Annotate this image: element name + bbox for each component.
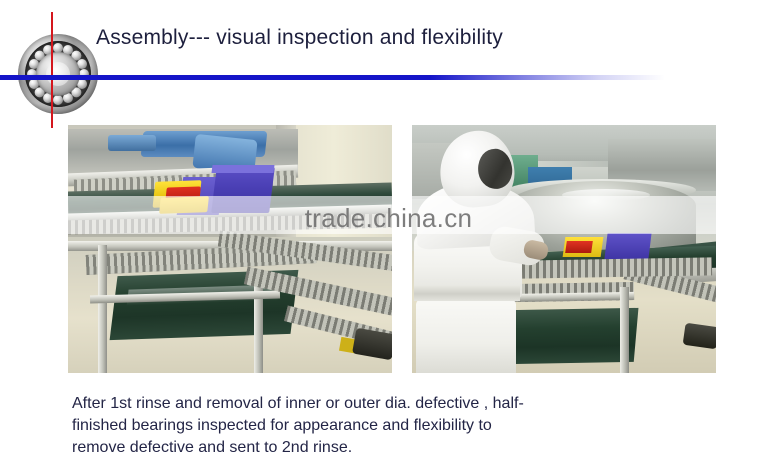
caption-line-2: finished bearings inspected for appearan… bbox=[72, 415, 692, 437]
red-bin bbox=[565, 241, 593, 253]
purple-bin bbox=[211, 167, 275, 213]
slide-canvas: Assembly--- visual inspection and flexib… bbox=[0, 0, 777, 469]
vertical-axis-line bbox=[51, 12, 53, 128]
conveyor-line-photo bbox=[68, 125, 392, 373]
ball-bearing-logo bbox=[12, 28, 104, 120]
purple-bin-rim bbox=[212, 165, 275, 173]
page-title: Assembly--- visual inspection and flexib… bbox=[96, 24, 503, 52]
caption-block: After 1st rinse and removal of inner or … bbox=[72, 393, 692, 459]
blue-robot-arm-tertiary bbox=[108, 135, 156, 151]
photo-row bbox=[68, 125, 716, 373]
worker-inspection-photo bbox=[412, 125, 716, 373]
frame-post-left bbox=[98, 245, 107, 373]
tank-highlight bbox=[562, 189, 650, 201]
horizontal-rule bbox=[0, 75, 665, 80]
upper-chain-conveyor bbox=[522, 257, 712, 278]
bearing-ball bbox=[53, 95, 63, 105]
worker-waistband bbox=[414, 285, 520, 301]
worker-legs bbox=[416, 299, 516, 373]
yellow-bin-lower bbox=[159, 196, 209, 214]
caption-line-3: remove defective and sent to 2nd rinse. bbox=[72, 437, 692, 459]
purple-bin bbox=[604, 233, 651, 259]
frame-post-right bbox=[620, 287, 629, 373]
caption-line-1: After 1st rinse and removal of inner or … bbox=[72, 393, 692, 415]
drive-roller bbox=[683, 323, 716, 350]
lower-green-belt bbox=[506, 308, 639, 364]
bearing-bore bbox=[46, 62, 70, 86]
